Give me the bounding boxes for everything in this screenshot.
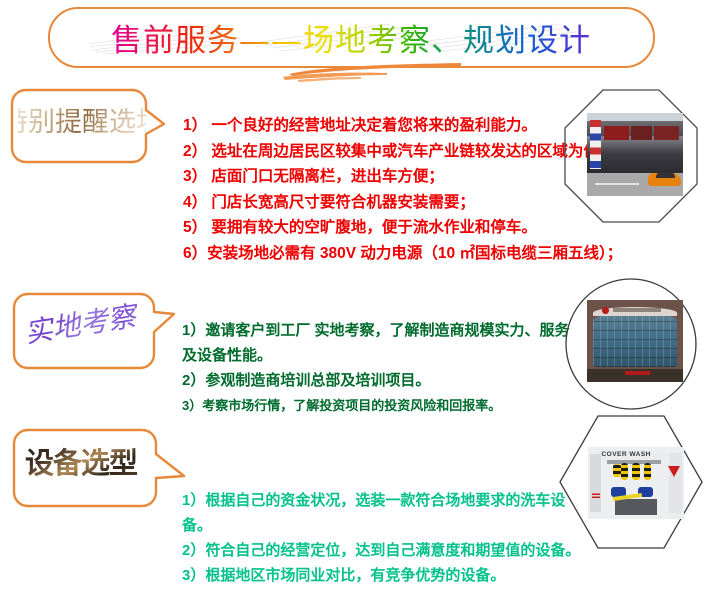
body-line: 2）参观制造商培训总部及培训项目。: [182, 368, 582, 393]
section-label-3: 设备选型: [16, 438, 146, 484]
body-line: 1）根据自己的资金状况，选装一款符合场地要求的洗车设备。: [182, 488, 582, 538]
section-label-1: 特别提醒选址: [18, 98, 146, 140]
body-line: 6）安装场地必需有 380V 动力电源（10 ㎡国标电缆三厢五线）；: [183, 241, 663, 267]
section-body-3: 1）根据自己的资金状况，选装一款符合场地要求的洗车设备。 2）符合自己的经营定位…: [182, 488, 582, 588]
car-wash-brand-label: COVER WASH: [601, 450, 657, 459]
office-building-photo: [587, 300, 683, 382]
car-wash-machine-photo: COVER WASH: [588, 447, 684, 519]
section-body-2: 1）邀请客户到工厂 实地考察，了解制造商规模实力、服务及设备性能。 2）参观制造…: [182, 318, 582, 418]
body-line: 2）符合自己的经营定位，达到自己满意度和期望值的设备。: [182, 538, 582, 563]
page-title: 售前服务——场地考察、规划设计: [56, 8, 646, 66]
body-line: 1）邀请客户到工厂 实地考察，了解制造商规模实力、服务及设备性能。: [182, 318, 582, 368]
slide-canvas: 售前服务——场地考察、规划设计 特别提醒选址 1） 一个良好的经营地址决定着您将…: [0, 0, 705, 615]
storefront-photo: [587, 113, 683, 196]
body-line: 3）根据地区市场同业对比，有竞争优势的设备。: [182, 563, 582, 588]
body-line: 3）考察市场行情，了解投资项目的投资风险和回报率。: [182, 393, 582, 418]
